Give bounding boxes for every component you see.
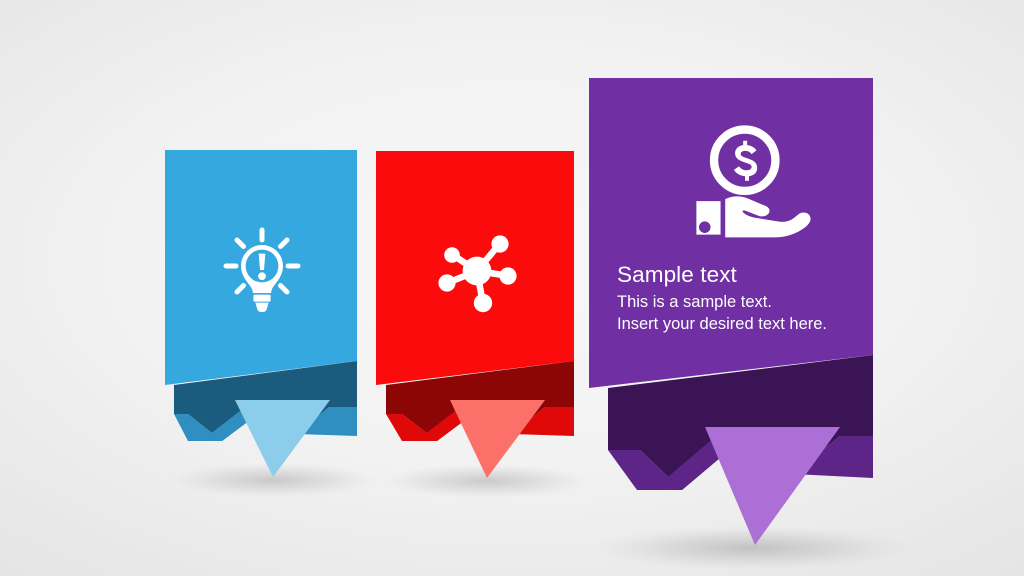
purple-banner-body-line-2: Insert your desired text here. bbox=[617, 314, 827, 336]
banner-blue[interactable] bbox=[165, 150, 357, 477]
banner-red[interactable] bbox=[376, 151, 574, 478]
purple-banner-text-block: Sample text This is a sample text. Inser… bbox=[617, 262, 827, 335]
slide-canvas: Sample text This is a sample text. Inser… bbox=[0, 0, 1024, 576]
purple-banner-title: Sample text bbox=[617, 262, 827, 288]
purple-banner-body-line-1: This is a sample text. bbox=[617, 292, 827, 314]
infographic-banner-group bbox=[0, 0, 1024, 576]
